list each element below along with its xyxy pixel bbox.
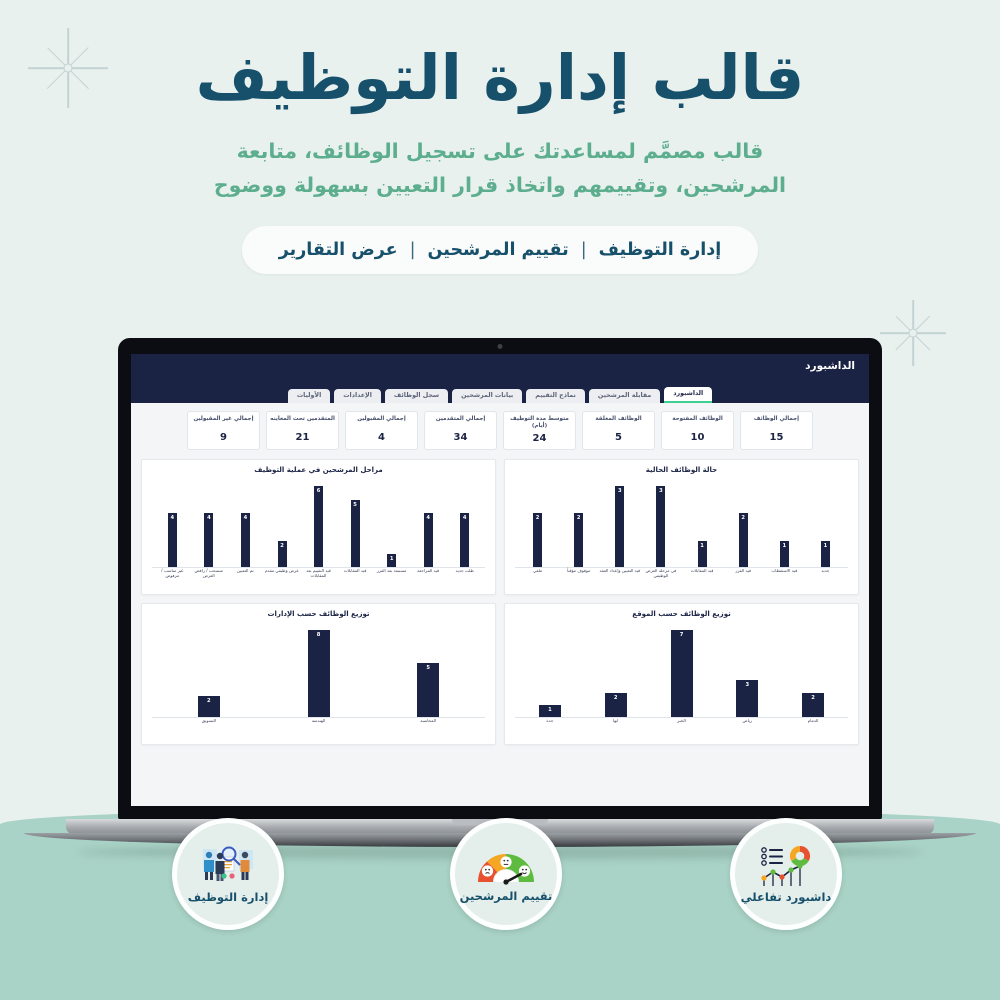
chart-x-label: تم التعيين: [227, 568, 264, 573]
chart-bar: 4: [424, 513, 433, 568]
chart-x-label: قيد التعيين وإعداد العقد: [599, 568, 640, 573]
chart-x-label: غير مناسب / مرفوض: [154, 568, 191, 579]
kpi-card: المتقدمين تحت المعاينه21: [266, 411, 339, 450]
chart-bar: 2: [802, 693, 824, 718]
hero-section: قالب إدارة التوظيف قالب مصمَّم لمساعدتك …: [0, 0, 1000, 274]
chart-x-label: التسويق: [154, 718, 264, 723]
chart-bar: 1: [780, 541, 789, 568]
pill-item-evaluation[interactable]: تقييم المرشحين: [428, 240, 569, 260]
bar-value-label: 1: [783, 543, 787, 549]
bar-value-label: 2: [577, 515, 581, 521]
chart-title: توزيع الوظائف حسب الموقع: [511, 610, 852, 618]
chart-card-jobs-by-location: توزيع الوظائف حسب الموقع 23721الدمامرياض…: [504, 603, 859, 745]
laptop-mockup: الداشبورد الداشبوردمقابلة المرشحيننماذج …: [118, 338, 882, 845]
tab-0[interactable]: الداشبورد: [664, 387, 712, 403]
chart-bar: 8: [308, 630, 330, 718]
chart-bar: 4: [168, 513, 177, 568]
chart-bar: 1: [387, 554, 396, 568]
kpi-label: الوظائف المفتوحة: [665, 416, 730, 429]
chart-bar: 2: [278, 541, 287, 568]
kpi-value: 9: [191, 432, 256, 443]
chart-bar: 2: [198, 696, 220, 718]
webcam-icon: [498, 344, 503, 349]
page-title: قالب إدارة التوظيف: [0, 0, 1000, 113]
chart-bar: 2: [605, 693, 627, 718]
chart-x-label: الخبر: [649, 718, 715, 723]
kpi-label: إجمالي غير المقبولين: [191, 416, 256, 429]
pill-item-recruitment[interactable]: إدارة التوظيف: [599, 240, 722, 260]
chart-bar: 5: [417, 663, 439, 718]
bar-value-label: 1: [700, 543, 704, 549]
chart-x-label: ابها: [583, 718, 649, 723]
kpi-value: 4: [349, 432, 414, 443]
kpi-card: متوسط مدة التوظيف (أيام)24: [503, 411, 576, 450]
chart-x-label: قيد الاستقطاب: [764, 568, 805, 573]
analytics-dashboard-icon: [756, 845, 816, 887]
bar-value-label: 2: [536, 515, 540, 521]
bar-value-label: 3: [618, 488, 622, 494]
chart-card-jobs-by-department: توزيع الوظائف حسب الإدارات 582المحاسبةال…: [141, 603, 496, 745]
chart-bar: 2: [533, 513, 542, 568]
chart-x-label: موقوف مؤقتاً: [558, 568, 599, 573]
bar-value-label: 3: [659, 488, 663, 494]
chart-bar: 4: [204, 513, 213, 568]
kpi-label: المتقدمين تحت المعاينه: [270, 416, 335, 429]
tab-4[interactable]: سجل الوظائف: [385, 389, 448, 403]
page-subtitle: قالب مصمَّم لمساعدتك على تسجيل الوظائف، …: [180, 135, 820, 201]
chart-x-label: عرض وظيفي مقدم: [264, 568, 301, 573]
tab-5[interactable]: الإعدادات: [334, 389, 381, 403]
tab-1[interactable]: مقابلة المرشحين: [589, 389, 660, 403]
chart-x-label: قيد المقابلات: [682, 568, 723, 573]
bar-value-label: 1: [824, 543, 828, 549]
bar-value-label: 1: [548, 707, 552, 713]
kpi-label: الوظائف المغلقة: [586, 416, 651, 429]
kpi-card: الوظائف المغلقة5: [582, 411, 655, 450]
badge-candidate-evaluation[interactable]: تقييم المرشحين: [450, 818, 562, 930]
chart-x-label: مستبعد بعد الفرز: [373, 568, 410, 573]
bar-value-label: 2: [207, 698, 211, 704]
bar-value-label: 7: [680, 632, 684, 638]
kpi-label: إجمالي المتقدمين: [428, 416, 493, 429]
kpi-label: إجمالي المقبولين: [349, 416, 414, 429]
chart-plot: 582المحاسبةالهندسةالتسويق: [148, 622, 489, 740]
bar-value-label: 4: [463, 515, 467, 521]
chart-x-label: الهندسة: [264, 718, 374, 723]
kpi-value: 21: [270, 432, 335, 443]
kpi-card: إجمالي غير المقبولين9: [187, 411, 260, 450]
chart-x-label: المحاسبة: [373, 718, 483, 723]
tab-3[interactable]: بيانات المرشحين: [452, 389, 522, 403]
charts-grid: حالة الوظائف الحالية 11213322جديدقيد الا…: [141, 459, 859, 745]
chart-x-label: جديد: [805, 568, 846, 573]
tab-2[interactable]: نماذج التقييم: [526, 389, 585, 403]
laptop-lid: الداشبورد الداشبوردمقابلة المرشحيننماذج …: [118, 338, 882, 820]
laptop-screen: الداشبورد الداشبوردمقابلة المرشحيننماذج …: [131, 354, 869, 806]
tab-6[interactable]: الأوليات: [288, 389, 330, 403]
chart-bar: 5: [351, 500, 360, 568]
kpi-card: الوظائف المفتوحة10: [661, 411, 734, 450]
chart-title: توزيع الوظائف حسب الإدارات: [148, 610, 489, 618]
bar-value-label: 4: [244, 515, 248, 521]
chart-bar: 4: [241, 513, 250, 568]
chart-x-label: طلب جديد: [446, 568, 483, 573]
badge-recruitment-management[interactable]: إدارة التوظيف: [172, 818, 284, 930]
recruitment-search-icon: [199, 845, 257, 887]
kpi-label: إجمالي الوظائف: [744, 416, 809, 429]
kpi-value: 24: [507, 433, 572, 444]
badge-label: إدارة التوظيف: [188, 890, 269, 904]
bar-value-label: 2: [614, 695, 618, 701]
bar-value-label: 5: [353, 502, 357, 508]
chart-bar: 6: [314, 486, 323, 568]
kpi-card: إجمالي الوظائف15: [740, 411, 813, 450]
chart-x-label: قيد المراجعة: [410, 568, 447, 573]
chart-title: حالة الوظائف الحالية: [511, 466, 852, 474]
bar-value-label: 2: [280, 543, 284, 549]
kpi-row: إجمالي الوظائف15الوظائف المفتوحة10الوظائ…: [141, 411, 859, 450]
chart-x-label: منسحب / رافض العرض: [191, 568, 228, 579]
bar-value-label: 4: [207, 515, 211, 521]
pill-separator: |: [410, 240, 416, 260]
badge-interactive-dashboard[interactable]: داشبورد تفاعلي: [730, 818, 842, 930]
satisfaction-gauge-icon: [474, 846, 538, 886]
pill-item-reports[interactable]: عرض التقارير: [279, 240, 398, 260]
chart-bar: 4: [460, 513, 469, 568]
chart-bar: 2: [739, 513, 748, 568]
chart-x-label: قيد المقابلات: [337, 568, 374, 573]
bar-value-label: 8: [317, 632, 321, 638]
feature-badges: إدارة التوظيف تقييم المرشحين: [0, 818, 1000, 938]
sparkle-decoration-icon: [880, 300, 946, 366]
chart-bar: 3: [615, 486, 624, 568]
kpi-label: متوسط مدة التوظيف (أيام): [507, 416, 572, 430]
chart-title: مراحل المرشحين في عملية التوظيف: [148, 466, 489, 474]
bar-value-label: 5: [426, 665, 430, 671]
chart-x-label: ملغي: [517, 568, 558, 573]
chart-bar: 1: [698, 541, 707, 568]
bar-value-label: 6: [317, 488, 321, 494]
chart-plot: 441562444طلب جديدقيد المراجعةمستبعد بعد …: [148, 478, 489, 590]
bar-value-label: 4: [171, 515, 175, 521]
chart-x-label: قيد الفرز: [723, 568, 764, 573]
chart-card-job-status: حالة الوظائف الحالية 11213322جديدقيد الا…: [504, 459, 859, 595]
chart-bar: 3: [656, 486, 665, 568]
kpi-value: 10: [665, 432, 730, 443]
chart-bar: 1: [821, 541, 830, 568]
kpi-value: 5: [586, 432, 651, 443]
bar-value-label: 4: [426, 515, 430, 521]
chart-x-label: الدمام: [780, 718, 846, 723]
kpi-value: 15: [744, 432, 809, 443]
chart-bar: 3: [736, 680, 758, 718]
bar-value-label: 2: [811, 695, 815, 701]
chart-bar: 7: [671, 630, 693, 718]
kpi-value: 34: [428, 432, 493, 443]
bar-value-label: 3: [746, 682, 750, 688]
chart-bar: 2: [574, 513, 583, 568]
pill-separator: |: [581, 240, 587, 260]
chart-plot: 11213322جديدقيد الاستقطابقيد الفرزقيد ال…: [511, 478, 852, 590]
dashboard-title: الداشبورد: [805, 360, 855, 372]
dashboard-body: إجمالي الوظائف15الوظائف المفتوحة10الوظائ…: [131, 403, 869, 755]
chart-card-candidate-stages: مراحل المرشحين في عملية التوظيف 44156244…: [141, 459, 496, 595]
dashboard-tabs: الداشبوردمقابلة المرشحيننماذج التقييمبيا…: [131, 382, 869, 403]
chart-x-label: قيد التقييم بعد المقابلات: [300, 568, 337, 579]
bar-value-label: 1: [390, 556, 394, 562]
feature-pill-bar: إدارة التوظيف | تقييم المرشحين | عرض الت…: [242, 226, 758, 274]
bar-value-label: 2: [741, 515, 745, 521]
chart-x-label: جدة: [517, 718, 583, 723]
chart-plot: 23721الدمامرياضالخبرابهاجدة: [511, 622, 852, 740]
dashboard-topbar: الداشبورد: [131, 354, 869, 382]
kpi-card: إجمالي المقبولين4: [345, 411, 418, 450]
chart-x-label: في مرحلة العرض الوظيفي: [640, 568, 681, 579]
kpi-card: إجمالي المتقدمين34: [424, 411, 497, 450]
badge-label: تقييم المرشحين: [460, 889, 553, 903]
badge-label: داشبورد تفاعلي: [741, 890, 832, 904]
chart-x-label: رياض: [714, 718, 780, 723]
